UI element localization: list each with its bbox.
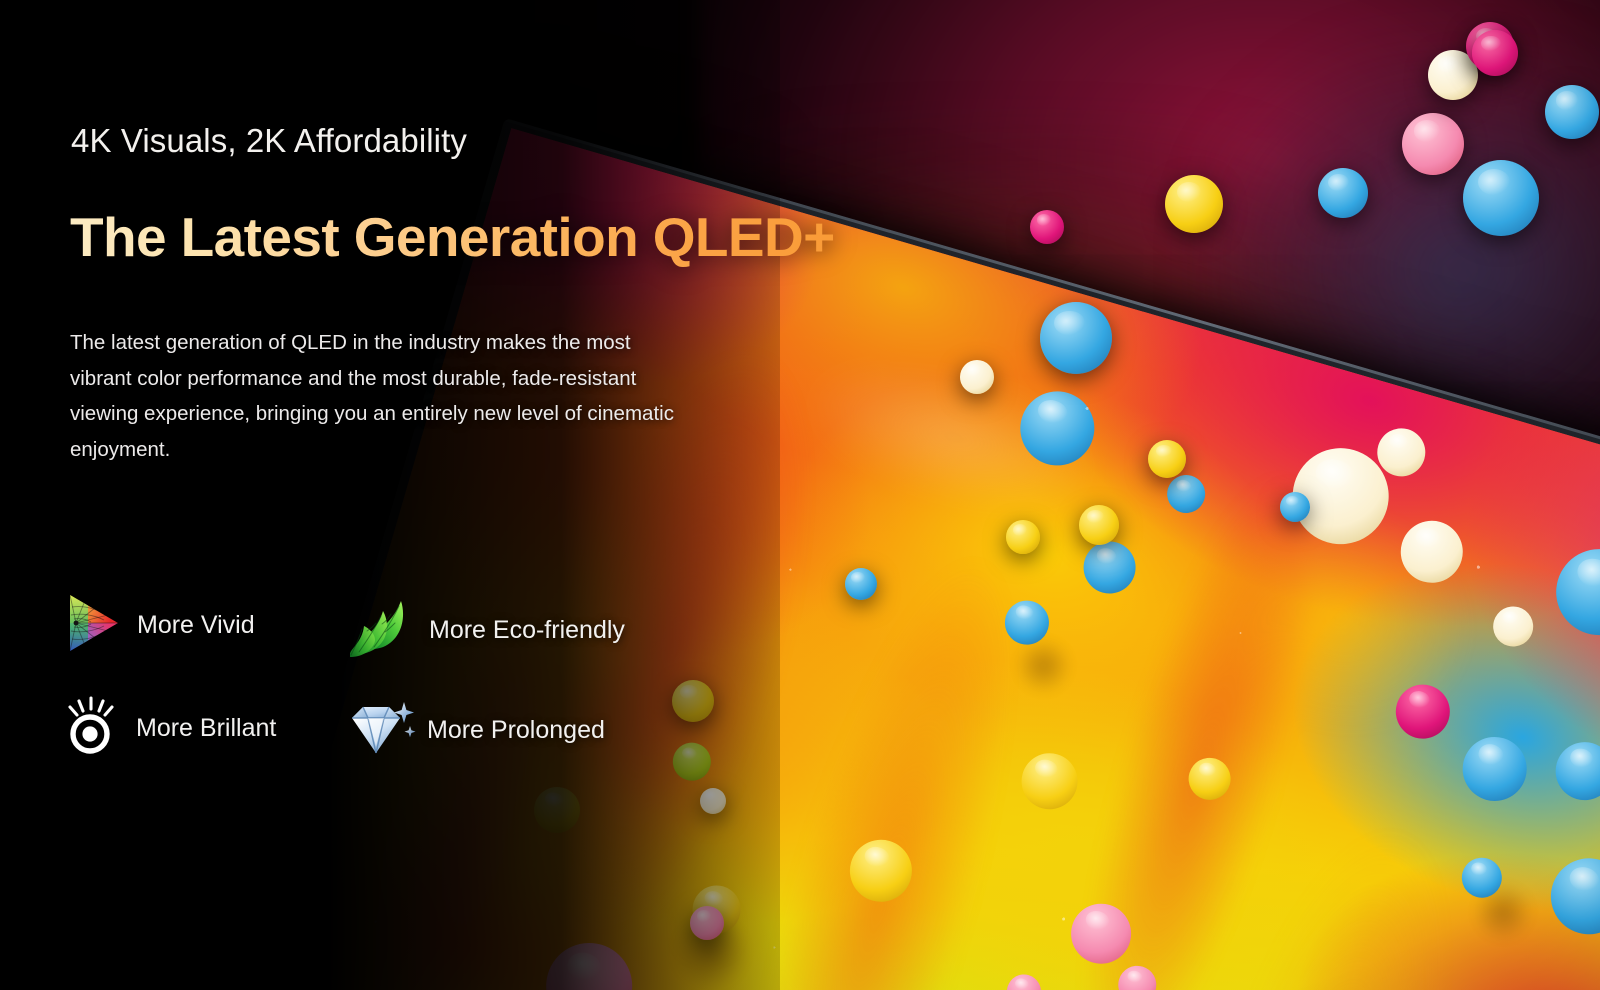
floating-bubble bbox=[1318, 168, 1368, 218]
banner-stage: 4K Visuals, 2K Affordability The Latest … bbox=[0, 0, 1600, 990]
floating-bubble bbox=[1079, 505, 1119, 545]
feature-label: More Eco-friendly bbox=[429, 616, 625, 645]
feature-label: More Prolonged bbox=[427, 716, 605, 745]
floating-bubble bbox=[960, 360, 994, 394]
floating-bubble bbox=[1472, 30, 1518, 76]
brightness-rays-icon bbox=[58, 694, 124, 763]
body-line: viewing experience, bringing you an enti… bbox=[70, 396, 794, 432]
eyebrow-text: 4K Visuals, 2K Affordability bbox=[71, 122, 467, 160]
feature-item-more-prolonged: More Prolonged bbox=[346, 696, 605, 765]
feature-label: More Brillant bbox=[136, 714, 276, 743]
body-paragraph: The latest generation of QLED in the ind… bbox=[70, 325, 794, 467]
floating-bubble bbox=[1545, 85, 1599, 139]
diamond-sparkle-icon bbox=[346, 696, 416, 765]
body-line: The latest generation of QLED in the ind… bbox=[70, 325, 794, 361]
feature-item-more-vivid: More Vivid bbox=[66, 593, 255, 658]
body-line: enjoyment. bbox=[70, 432, 794, 468]
feature-item-more-eco-friendly: More Eco-friendly bbox=[350, 597, 625, 664]
copy-block: 4K Visuals, 2K Affordability The Latest … bbox=[0, 0, 830, 990]
body-line: vibrant color performance and the most d… bbox=[70, 361, 794, 397]
floating-bubble bbox=[1006, 520, 1040, 554]
floating-bubble bbox=[1030, 210, 1064, 244]
page-title: The Latest Generation QLED+ bbox=[70, 207, 835, 269]
floating-bubble bbox=[1165, 175, 1223, 233]
color-gamut-triangle-icon bbox=[66, 593, 122, 658]
floating-bubble bbox=[1402, 113, 1464, 175]
floating-bubble bbox=[1463, 160, 1539, 236]
floating-bubble bbox=[845, 568, 877, 600]
green-leaves-icon bbox=[350, 597, 416, 664]
floating-bubble bbox=[1040, 302, 1112, 374]
feature-item-more-brillant: More Brillant bbox=[58, 694, 276, 763]
feature-label: More Vivid bbox=[137, 611, 255, 640]
floating-bubble bbox=[1148, 440, 1186, 478]
floating-bubble bbox=[1280, 492, 1310, 522]
